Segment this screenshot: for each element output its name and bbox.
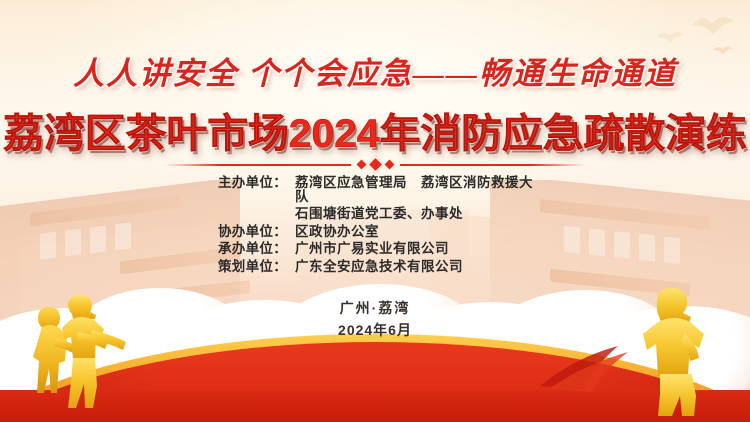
organizer-row: 主办单位： 荔湾区应急管理局 荔湾区消防救援大队 [0,176,750,203]
organizer-value: 石围塘街道党工委、办事处 [295,207,545,221]
organizer-list: 主办单位： 荔湾区应急管理局 荔湾区消防救援大队 主办单位： 石围塘街道党工委、… [0,176,750,273]
poster-canvas: 人人讲安全 个个会应急——畅通生命通道 荔湾区茶叶市场2024年消防应急疏散演练… [0,0,750,422]
divider-line-left [165,164,351,166]
bird-icon [655,26,685,48]
diamond-icon [356,160,366,170]
organizer-label: 协办单位： [205,225,287,239]
diamond-icon [384,160,394,170]
organizer-label: 主办单位： [205,176,287,203]
decorative-divider [165,158,585,171]
organizer-value: 广东全安应急技术有限公司 [295,260,545,274]
organizer-row: 承办单位： 广州市广易实业有限公司 [0,242,750,256]
organizer-label: 策划单位： [205,260,287,274]
organizer-value: 荔湾区应急管理局 荔湾区消防救援大队 [295,176,545,203]
organizer-row: 协办单位： 区政协办公室 [0,225,750,239]
organizer-value: 区政协办公室 [295,225,545,239]
diamond-icon [366,155,384,173]
bird-icon [690,8,736,42]
organizer-row: 策划单位： 广东全安应急技术有限公司 [0,260,750,274]
organizer-label: 承办单位： [205,242,287,256]
poster-subtitle: 人人讲安全 个个会应急——畅通生命通道 [0,48,750,93]
event-date: 2024年6月 [0,320,750,340]
organizer-value: 广州市广易实业有限公司 [295,242,545,256]
poster-title: 荔湾区茶叶市场2024年消防应急疏散演练 [0,101,750,159]
divider-line-right [400,164,586,166]
organizer-row: 主办单位： 石围塘街道党工委、办事处 [0,207,750,221]
divider-ornament [358,158,393,171]
event-location: 广州·荔湾 [0,298,750,318]
